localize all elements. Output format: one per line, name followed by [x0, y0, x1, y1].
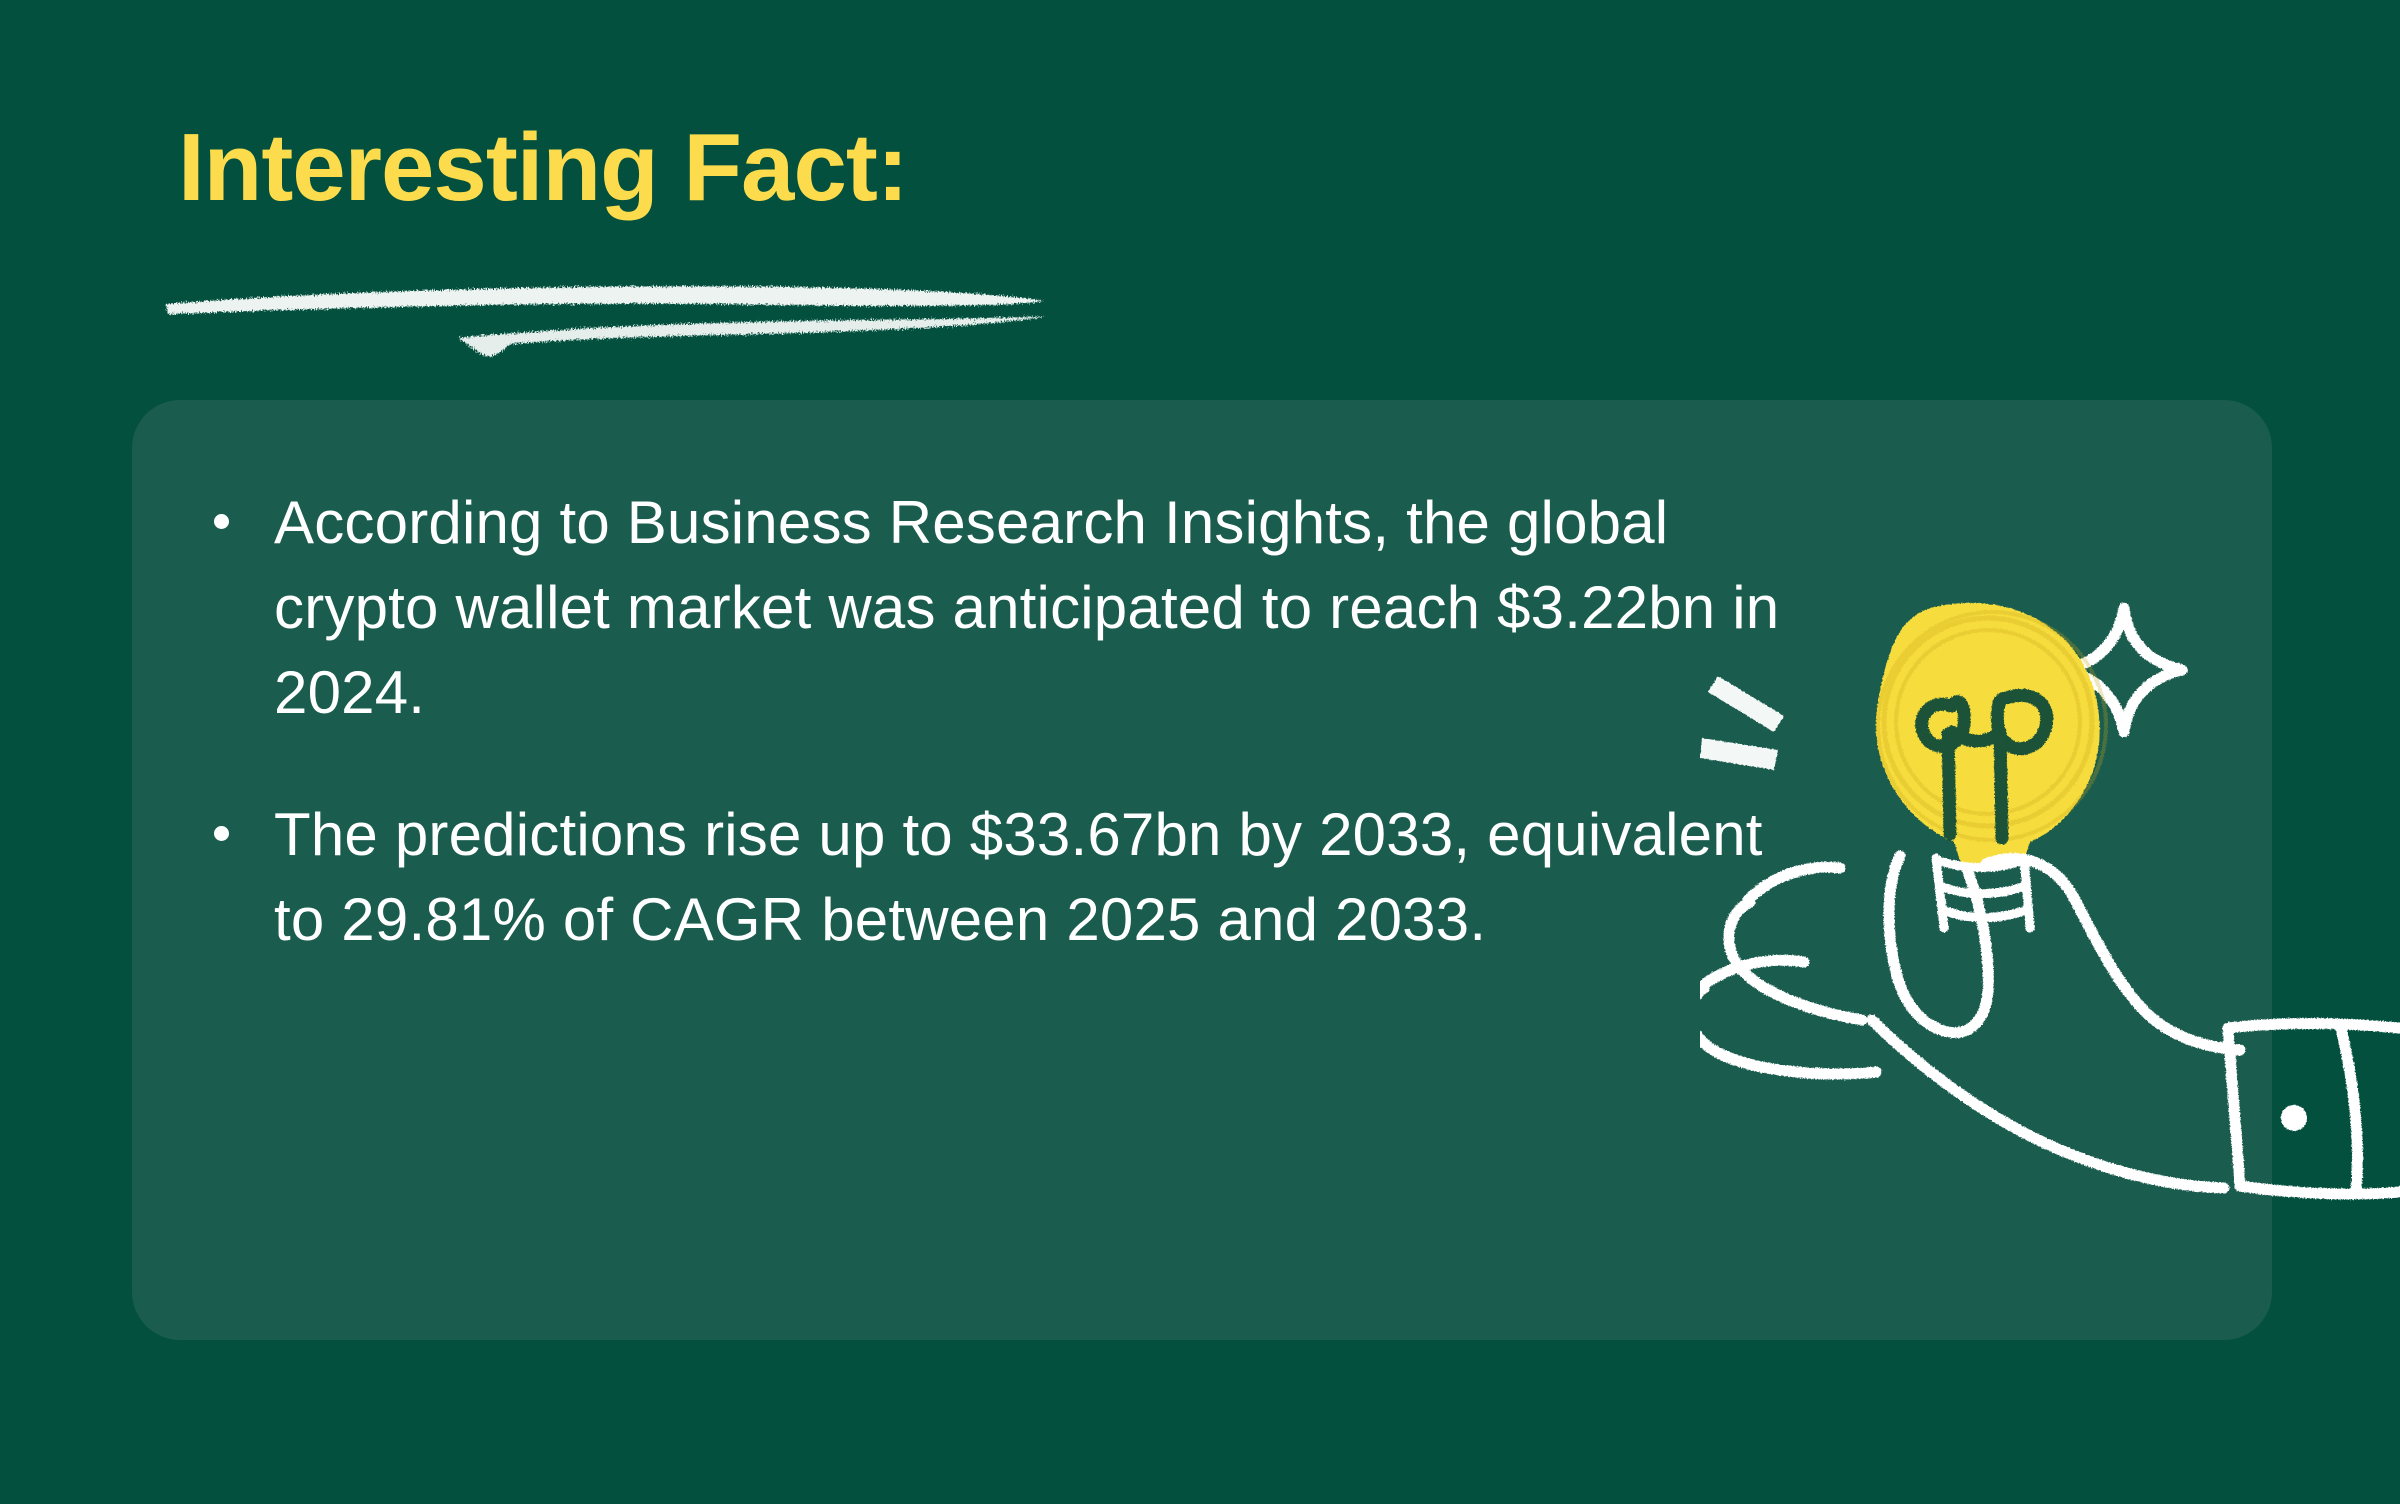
fact-card: According to Business Research Insights,…: [132, 400, 2272, 1340]
bullet-text: According to Business Research Insights,…: [274, 489, 1779, 726]
list-item: According to Business Research Insights,…: [192, 480, 1812, 736]
bullet-dot-icon: [214, 826, 229, 841]
bullet-dot-icon: [214, 514, 229, 529]
bullet-text: The predictions rise up to $33.67bn by 2…: [274, 801, 1763, 953]
page-title: Interesting Fact:: [178, 118, 1278, 219]
list-item: The predictions rise up to $33.67bn by 2…: [192, 792, 1812, 962]
chalk-underline-icon: [158, 256, 1058, 366]
fact-bullet-list: According to Business Research Insights,…: [192, 480, 1812, 962]
heading-block: Interesting Fact:: [178, 118, 1278, 219]
cuff-button-icon: [2281, 1105, 2307, 1131]
slide-canvas: Interesting Fact:: [0, 0, 2400, 1504]
